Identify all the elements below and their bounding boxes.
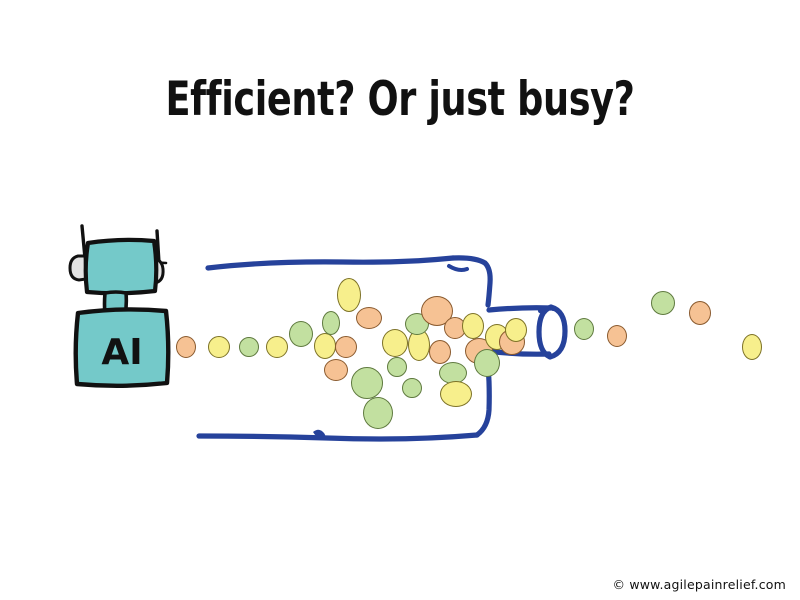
item-dot-inflow bbox=[208, 336, 230, 358]
item-dot-congestion bbox=[337, 278, 361, 312]
item-dot-congestion bbox=[402, 378, 422, 398]
item-dot-inflow bbox=[176, 336, 196, 358]
item-dot-inflow bbox=[239, 337, 259, 357]
item-dot-congestion bbox=[440, 381, 472, 407]
item-dot-congestion bbox=[356, 307, 382, 329]
item-dot-outflow bbox=[651, 291, 675, 315]
item-dot-congestion bbox=[322, 311, 340, 335]
footer-credit: © www.agilepainrelief.com bbox=[612, 577, 786, 592]
item-dot-congestion bbox=[505, 318, 527, 342]
illustration: AI bbox=[0, 0, 800, 600]
item-dot-congestion bbox=[474, 349, 500, 377]
item-dot-congestion bbox=[335, 336, 357, 358]
item-dot-congestion bbox=[363, 397, 393, 429]
item-dot-congestion bbox=[429, 340, 451, 364]
item-dot-outflow bbox=[574, 318, 594, 340]
item-dot-outflow bbox=[742, 334, 762, 360]
item-dot-inflow bbox=[289, 321, 313, 347]
item-dot-inflow bbox=[314, 333, 336, 359]
slide-canvas: Efficient? Or just busy? bbox=[0, 0, 800, 600]
item-dot-outflow bbox=[689, 301, 711, 325]
item-dot-congestion bbox=[382, 329, 408, 357]
item-dot-congestion bbox=[462, 313, 484, 339]
item-dot-congestion bbox=[324, 359, 348, 381]
item-dots bbox=[0, 0, 800, 600]
item-dot-congestion bbox=[387, 357, 407, 377]
item-dot-outflow bbox=[607, 325, 627, 347]
item-dot-inflow bbox=[266, 336, 288, 358]
item-dot-congestion bbox=[351, 367, 383, 399]
